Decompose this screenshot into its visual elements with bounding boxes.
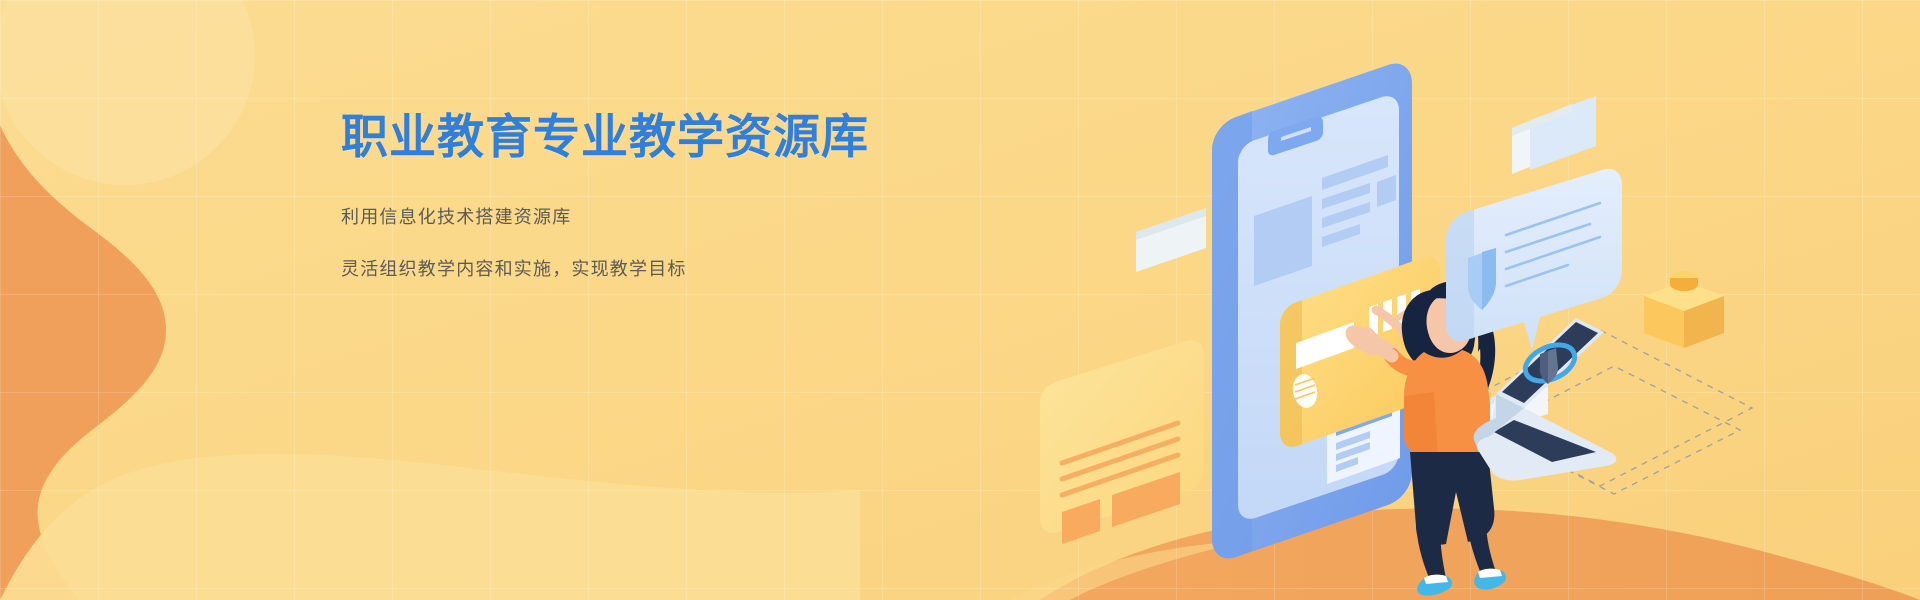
page-title: 职业教育专业教学资源库	[341, 108, 1021, 165]
sneaker-left	[1417, 575, 1452, 596]
coin-box	[1644, 271, 1724, 348]
hero-banner: 职业教育专业教学资源库 利用信息化技术搭建资源库 灵活组织教学内容和实施，实现教…	[0, 0, 1920, 600]
subtitle-line-2: 灵活组织教学内容和实施，实现教学目标	[341, 255, 1021, 281]
floating-papers-top	[1512, 96, 1596, 174]
subtitle-line-1: 利用信息化技术搭建资源库	[341, 203, 1021, 229]
hero-illustration	[0, 0, 1920, 600]
chat-bubble	[1446, 169, 1622, 350]
sneaker-right	[1474, 569, 1506, 590]
floating-paper-left	[1136, 208, 1206, 272]
banner-copy: 职业教育专业教学资源库 利用信息化技术搭建资源库 灵活组织教学内容和实施，实现教…	[341, 108, 1021, 281]
document-card	[1040, 340, 1204, 544]
